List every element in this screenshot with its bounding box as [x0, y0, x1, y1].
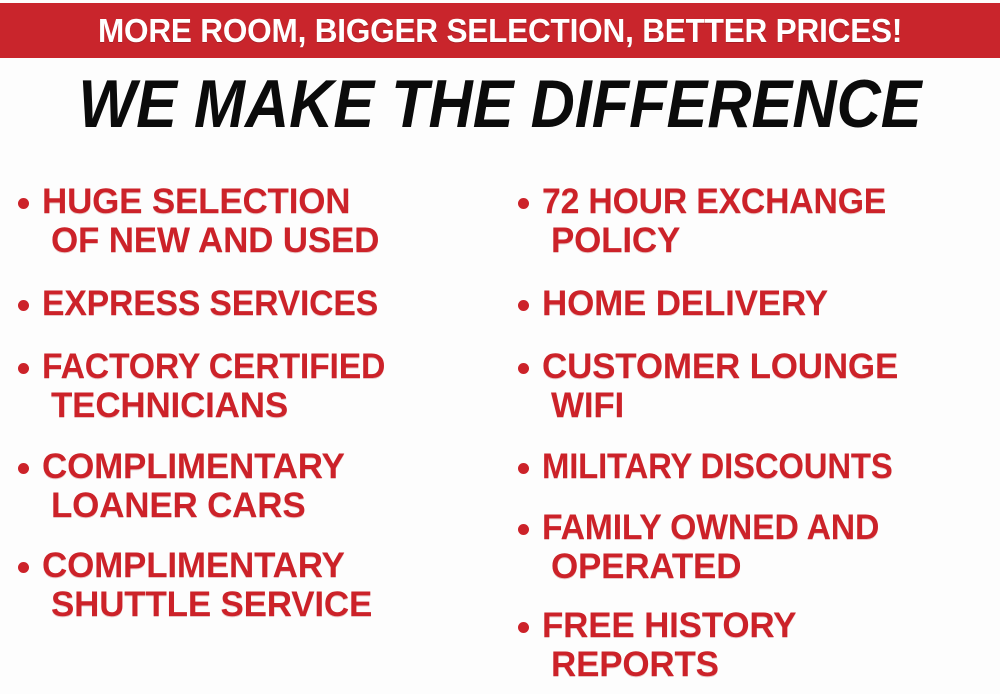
benefit-line-2: OPERATED	[542, 547, 891, 586]
page-title: WE MAKE THE DIFFERENCE	[50, 70, 950, 138]
benefit-line-1: 72 HOUR EXCHANGE	[542, 182, 886, 221]
benefit-line-1: COMPLIMENTARY	[42, 447, 345, 486]
benefit-item: 72 HOUR EXCHANGEPOLICY	[518, 182, 899, 260]
benefit-item: FACTORY CERTIFIEDTECHNICIANS	[18, 347, 398, 425]
benefits-columns: HUGE SELECTIONOF NEW AND USEDEXPRESS SER…	[0, 158, 1000, 694]
benefit-item: HOME DELIVERY	[518, 284, 828, 323]
benefit-line-2: LOANER CARS	[42, 486, 345, 525]
banner-text: MORE ROOM, BIGGER SELECTION, BETTER PRIC…	[98, 14, 902, 47]
promo-poster: MORE ROOM, BIGGER SELECTION, BETTER PRIC…	[0, 0, 1000, 694]
bullet-dot-icon	[518, 622, 529, 633]
benefit-line-1: FREE HISTORY	[542, 606, 796, 645]
benefit-line-2: OF NEW AND USED	[42, 221, 379, 260]
benefit-line-2: POLICY	[542, 221, 899, 260]
benefit-line-1: COMPLIMENTARY	[42, 546, 345, 585]
benefit-item-label: HOME DELIVERY	[542, 284, 828, 323]
benefit-item-label: FAMILY OWNED ANDOPERATED	[542, 508, 891, 586]
benefit-item-label: COMPLIMENTARYSHUTTLE SERVICE	[42, 546, 372, 624]
bullet-dot-icon	[18, 463, 29, 474]
bullet-dot-icon	[518, 198, 529, 209]
benefits-column-left: HUGE SELECTIONOF NEW AND USEDEXPRESS SER…	[18, 158, 508, 694]
benefit-item-label: FREE HISTORYREPORTS	[542, 606, 796, 684]
benefit-line-2: SHUTTLE SERVICE	[42, 585, 372, 624]
bullet-dot-icon	[518, 524, 529, 535]
bullet-dot-icon	[18, 562, 29, 573]
benefit-item: HUGE SELECTIONOF NEW AND USED	[18, 182, 379, 260]
benefit-line-2: REPORTS	[542, 645, 796, 684]
benefit-item: CUSTOMER LOUNGEWIFI	[518, 347, 898, 425]
benefit-item: COMPLIMENTARYSHUTTLE SERVICE	[18, 546, 372, 624]
benefits-column-right: 72 HOUR EXCHANGEPOLICYHOME DELIVERYCUSTO…	[518, 158, 1000, 694]
benefit-line-1: EXPRESS SERVICES	[42, 284, 378, 323]
bullet-dot-icon	[18, 300, 29, 311]
bullet-dot-icon	[518, 463, 529, 474]
benefit-item: COMPLIMENTARYLOANER CARS	[18, 447, 345, 525]
bullet-dot-icon	[18, 198, 29, 209]
benefit-item: EXPRESS SERVICES	[18, 284, 390, 323]
benefit-line-1: CUSTOMER LOUNGE	[542, 347, 898, 386]
benefit-item-label: COMPLIMENTARYLOANER CARS	[42, 447, 345, 525]
benefit-item: FREE HISTORYREPORTS	[518, 606, 796, 684]
benefit-item-label: MILITARY DISCOUNTS	[542, 447, 915, 486]
bullet-dot-icon	[18, 363, 29, 374]
benefit-item-label: CUSTOMER LOUNGEWIFI	[542, 347, 898, 425]
benefit-item: FAMILY OWNED ANDOPERATED	[518, 508, 891, 586]
benefit-line-2: TECHNICIANS	[42, 386, 398, 425]
benefit-item: MILITARY DISCOUNTS	[518, 447, 915, 486]
benefit-item-label: HUGE SELECTIONOF NEW AND USED	[42, 182, 379, 260]
benefit-item-label: EXPRESS SERVICES	[42, 284, 390, 323]
benefit-line-1: MILITARY DISCOUNTS	[542, 447, 893, 486]
top-banner: MORE ROOM, BIGGER SELECTION, BETTER PRIC…	[0, 3, 1000, 58]
benefit-line-2: WIFI	[542, 386, 898, 425]
benefit-line-1: HOME DELIVERY	[542, 284, 828, 323]
bullet-dot-icon	[518, 300, 529, 311]
benefit-item-label: FACTORY CERTIFIEDTECHNICIANS	[42, 347, 398, 425]
benefit-line-1: FACTORY CERTIFIED	[42, 347, 385, 386]
benefit-line-1: FAMILY OWNED AND	[542, 508, 879, 547]
bullet-dot-icon	[518, 363, 529, 374]
benefit-item-label: 72 HOUR EXCHANGEPOLICY	[542, 182, 899, 260]
benefit-line-1: HUGE SELECTION	[42, 182, 350, 221]
